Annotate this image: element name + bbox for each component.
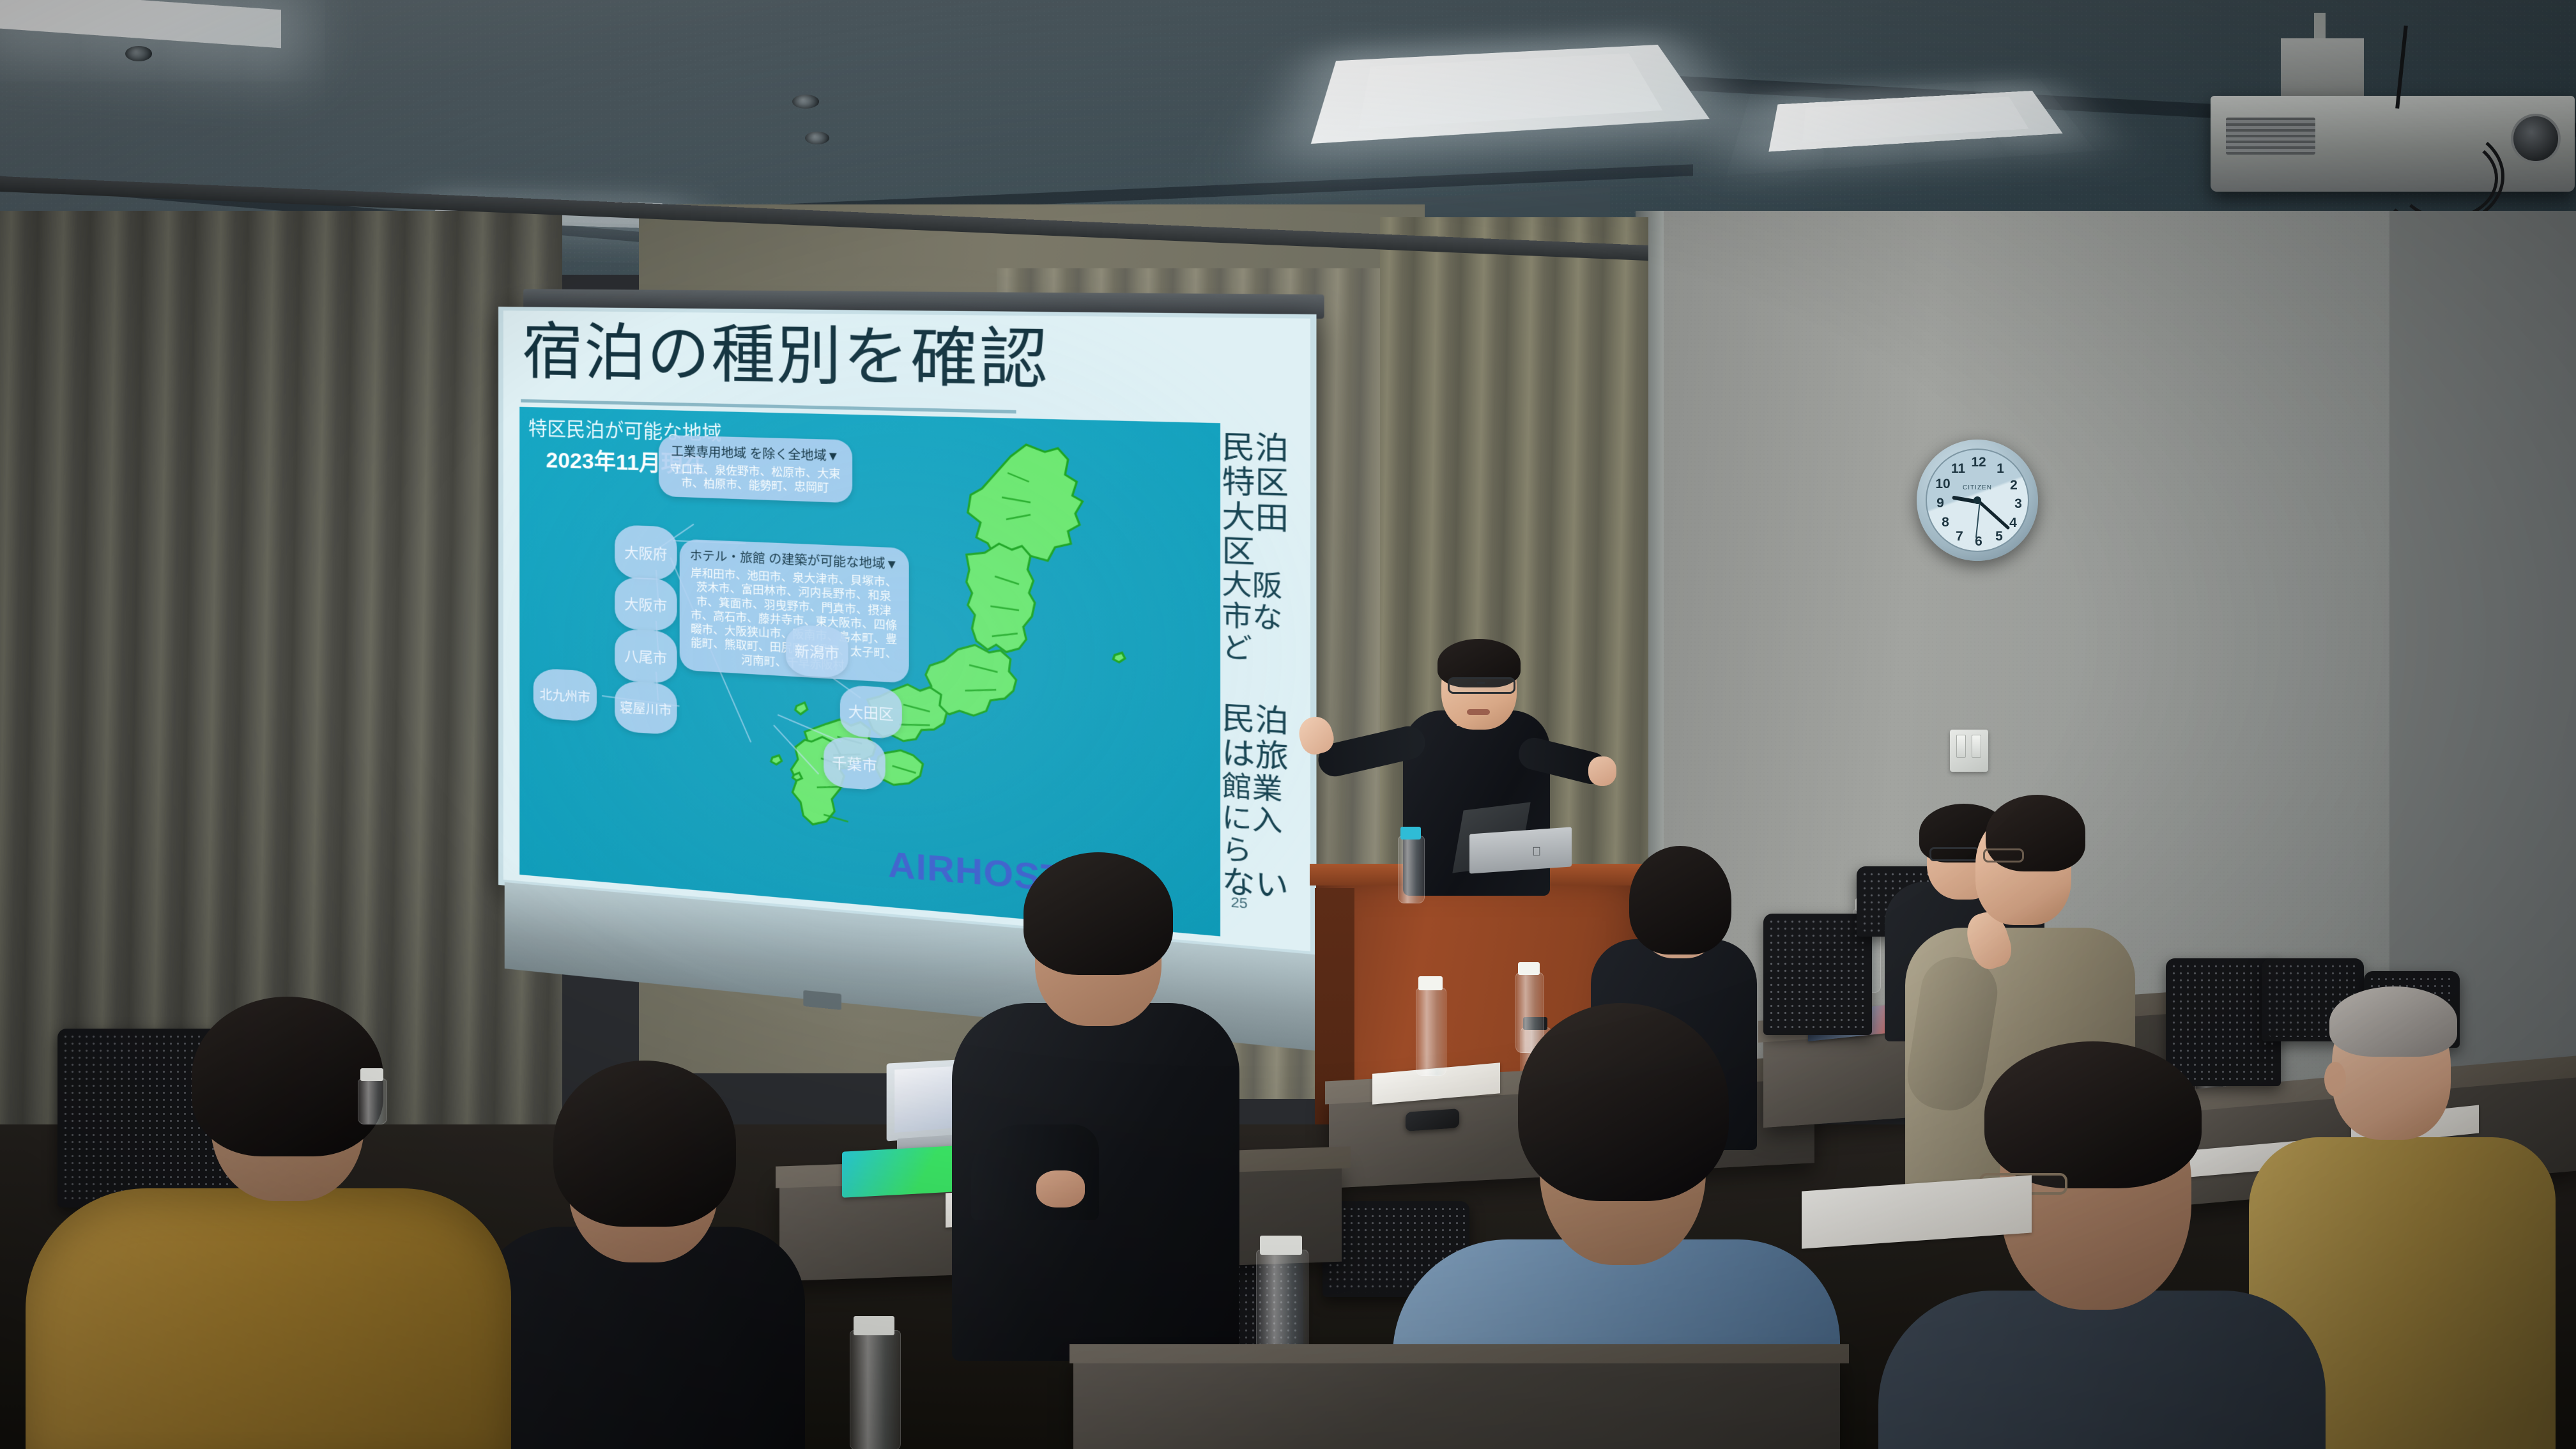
slide-right-notes: 民泊特区 大田区 大阪市など 民泊は旅 館業に入ら ない: [1222, 430, 1310, 907]
map-bubble-osaka-shi: 大阪市: [615, 576, 677, 631]
clock-second-hand: [1975, 498, 1981, 538]
audience-glasses-icon: [1929, 847, 1979, 861]
light-switch-rocker[interactable]: [1972, 735, 1981, 758]
audience-arm: [971, 1124, 1099, 1220]
audience-hand: [1036, 1170, 1085, 1207]
projector-mount-bracket: [2281, 38, 2364, 100]
conference-room-photo: CITIZEN 12 1 2 3 4 5 6 7 8 9 10 11 宿泊の種: [0, 0, 2576, 1449]
screen-surface: 宿泊の種別を確認 特区民泊が可能な地域 2023年11月現在: [498, 307, 1316, 958]
macbook[interactable]: [1469, 827, 1572, 873]
presenter-glasses-icon: [1448, 677, 1515, 694]
water-bottle[interactable]: [358, 1078, 387, 1124]
note-line: 民泊は旅: [1222, 701, 1310, 777]
clock-number: 11: [1950, 461, 1966, 477]
audience-torso: [26, 1188, 511, 1449]
apple-logo-icon: : [1532, 846, 1544, 859]
audience-torso: [1878, 1291, 2326, 1449]
clock-number: 10: [1935, 477, 1951, 492]
bottle-cap: [1400, 827, 1421, 839]
bottle-cap: [1260, 1236, 1302, 1255]
ceiling-speaker-grill: [125, 46, 152, 61]
clock-number: 12: [1970, 455, 1987, 470]
audience-ear: [2324, 1062, 2346, 1096]
bottle-cap: [1418, 976, 1443, 990]
clock-number: 7: [1951, 529, 1968, 544]
notebook[interactable]: [842, 1146, 956, 1197]
presenter-mouth: [1467, 709, 1490, 715]
slide-page-number: 25: [1231, 895, 1248, 913]
light-switch-rocker[interactable]: [1956, 735, 1966, 758]
audience-hair: [1629, 846, 1731, 954]
map-bubble-yao: 八尾市: [615, 629, 677, 684]
ceiling-speaker-grill: [792, 95, 819, 109]
clock-number: 8: [1937, 515, 1954, 530]
projector-cable: [2396, 137, 2498, 220]
map-bubble-kitakyushu: 北九州市: [533, 668, 597, 722]
bottle-cap: [854, 1316, 894, 1335]
audience-hair: [553, 1061, 736, 1227]
projection-screen: 宿泊の種別を確認 特区民泊が可能な地域 2023年11月現在: [498, 307, 1355, 1030]
water-bottle[interactable]: [850, 1330, 901, 1449]
clock-minute-hand: [1977, 500, 2010, 530]
clock-number: 9: [1932, 496, 1949, 511]
clock-number: 2: [2005, 478, 2022, 493]
map-bubble-osaka-fu: 大阪府: [615, 525, 677, 581]
presenter-glasses-bridge: [1477, 682, 1485, 684]
clock-brand: CITIZEN: [1963, 484, 1992, 491]
note-line: 館業に入ら: [1222, 770, 1310, 872]
audience-hair: [1518, 1003, 1729, 1201]
audience-hair: [2329, 986, 2457, 1057]
info-box-city-list: 守口市、泉佐野市、松原市、大東市、柏原市、能勢町、忠岡町: [668, 462, 843, 496]
water-bottle[interactable]: [1416, 988, 1446, 1076]
note-line: 民泊特区: [1222, 430, 1310, 502]
smartphone[interactable]: [1406, 1108, 1459, 1131]
table: [1073, 1354, 1840, 1449]
slide-title: 宿泊の種別を確認: [522, 321, 1049, 393]
map-bubble-ota-ku: 大田区: [840, 685, 902, 740]
light-switch-plate[interactable]: [1950, 730, 1988, 772]
bottle-cap: [360, 1068, 383, 1081]
chair-mesh: [1768, 918, 1867, 1031]
clock-face: CITIZEN 12 1 2 3 4 5 6 7 8 9 10 11: [1926, 448, 2029, 552]
wall-clock: CITIZEN 12 1 2 3 4 5 6 7 8 9 10 11: [1917, 440, 2038, 561]
clock-center-pin: [1974, 496, 1981, 504]
water-bottle[interactable]: [1398, 836, 1425, 903]
clock-number: 1: [1992, 461, 2009, 477]
map-bubble-neyagawa: 寝屋川市: [615, 680, 677, 735]
info-box-heading: 工業専用地域 を除く全地域▼: [668, 441, 843, 464]
note-line: 大阪市など: [1222, 569, 1310, 668]
clock-number: 5: [1991, 529, 2007, 544]
projector-vents: [2226, 118, 2315, 155]
audience-glasses-icon: [1983, 848, 2024, 862]
audience-hair: [192, 997, 383, 1156]
map-bubble-niigata: 新潟市: [786, 624, 848, 678]
audience-hair: [1984, 1041, 2202, 1188]
slide: 宿泊の種別を確認 特区民泊が可能な地域 2023年11月現在: [503, 310, 1310, 951]
chair-mesh: [2170, 963, 2276, 1082]
presenter-right-hand: [1588, 756, 1616, 786]
table-top: [1069, 1344, 1849, 1363]
clock-number: 3: [2010, 496, 2027, 512]
note-line: 大田区: [1222, 500, 1310, 572]
ceiling-speaker-grill: [805, 132, 829, 144]
map-bubble-chiba: 千葉市: [824, 736, 885, 791]
info-box-industrial-zone: 工業専用地域 を除く全地域▼ 守口市、泉佐野市、松原市、大東市、柏原市、能勢町、…: [659, 435, 852, 503]
bottle-cap: [1518, 962, 1540, 975]
audience-hair: [1023, 852, 1173, 975]
chair[interactable]: [1763, 914, 1872, 1035]
clock-number: 6: [1970, 534, 1987, 549]
projector-lens-icon: [2511, 114, 2561, 164]
